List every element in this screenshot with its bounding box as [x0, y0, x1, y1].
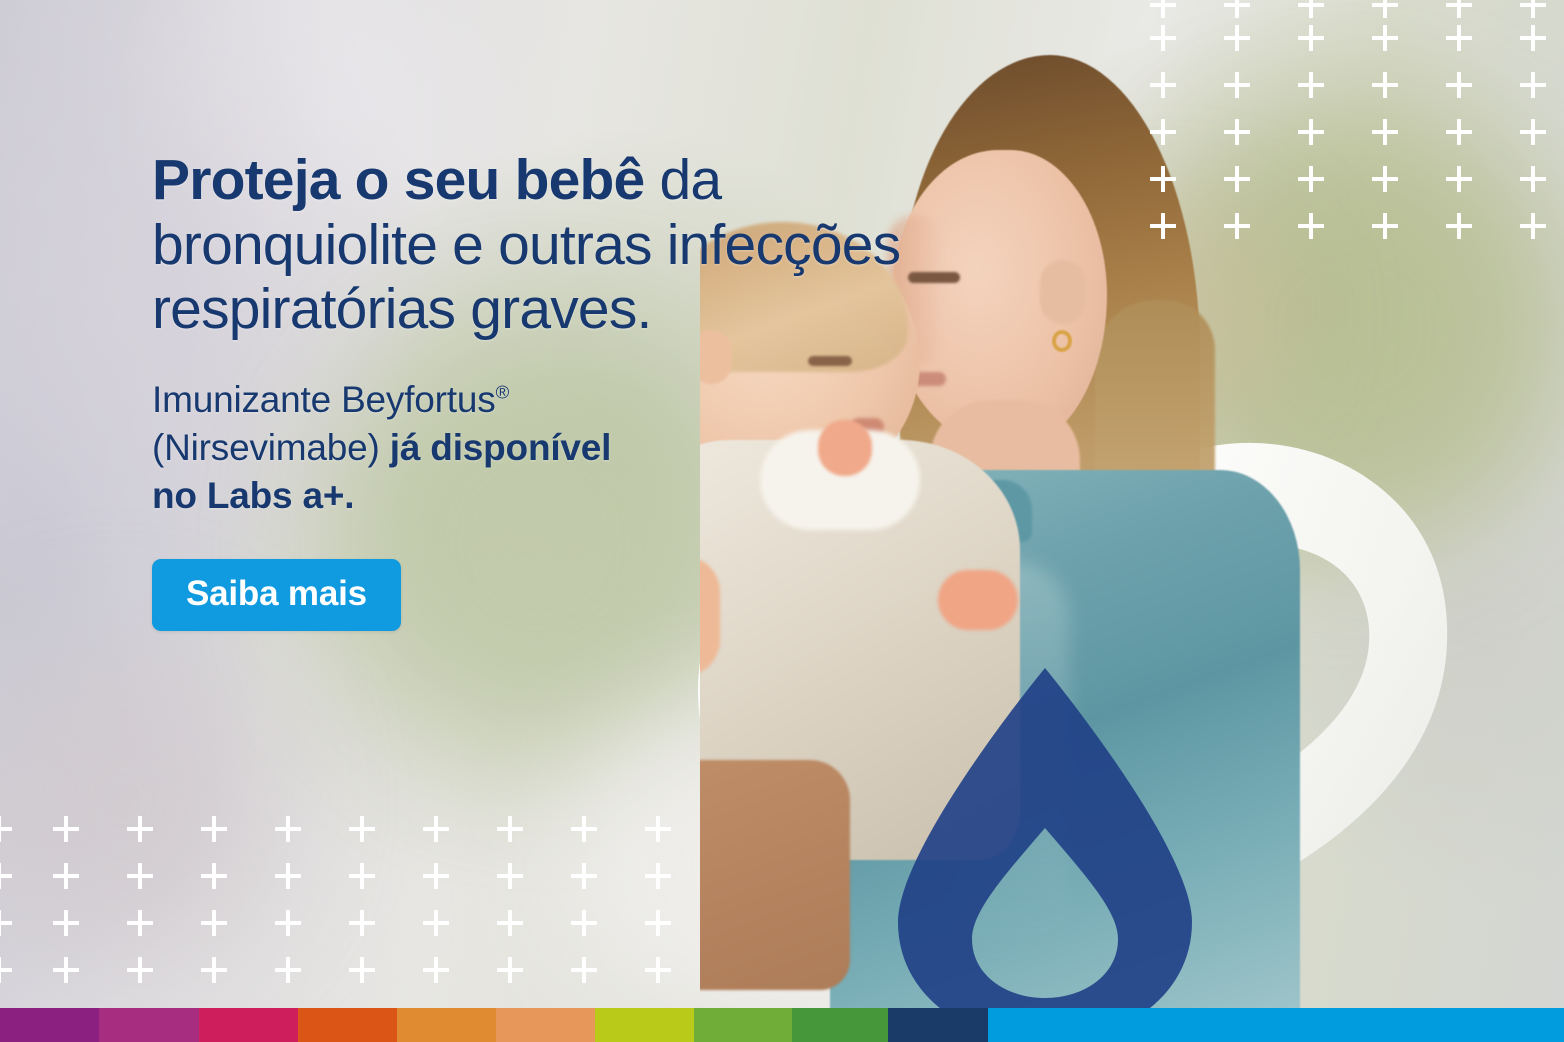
plus-mark-icon [1150, 25, 1176, 51]
navy-droplet-logo-icon [880, 660, 1210, 1042]
headline-rest-line1: da [644, 148, 721, 212]
saiba-mais-button[interactable]: Saiba mais [152, 559, 401, 631]
baby-arm [700, 760, 850, 990]
plus-mark-icon [423, 957, 449, 983]
plus-mark-icon [1520, 25, 1546, 51]
plus-mark-icon [423, 863, 449, 889]
plus-mark-icon [423, 816, 449, 842]
plus-mark-icon [0, 863, 12, 889]
plus-mark-icon [0, 816, 12, 842]
plus-mark-icon [1446, 166, 1472, 192]
plus-mark-icon [1446, 213, 1472, 239]
plus-mark-icon [349, 957, 375, 983]
plus-mark-icon [1372, 166, 1398, 192]
color-bar-segment-navy [888, 1008, 988, 1042]
headline: Proteja o seu bebê da bronquiolite e out… [152, 148, 1052, 342]
plus-mark-icon [1150, 119, 1176, 145]
plus-mark-icon [275, 863, 301, 889]
plus-mark-icon [1150, 0, 1176, 18]
plus-mark-icon [1298, 119, 1324, 145]
color-bar-segment-magenta [99, 1008, 199, 1042]
brand-color-bar [0, 1008, 1564, 1042]
plus-mark-icon [1150, 213, 1176, 239]
plus-mark-icon [1520, 119, 1546, 145]
plus-mark-icon [645, 910, 671, 936]
plus-mark-icon [571, 910, 597, 936]
plus-mark-icon [349, 863, 375, 889]
plus-mark-icon [1298, 72, 1324, 98]
plus-mark-icon [53, 957, 79, 983]
subcopy-product-name: Imunizante Beyfortus [152, 379, 496, 420]
plus-mark-icon [571, 957, 597, 983]
plus-mark-icon [1224, 166, 1250, 192]
color-bar-segment-orange [397, 1008, 496, 1042]
plus-mark-icon [1446, 119, 1472, 145]
plus-mark-icon [497, 863, 523, 889]
plus-mark-icon [497, 816, 523, 842]
plus-mark-icon [1298, 166, 1324, 192]
plus-mark-icon [1520, 72, 1546, 98]
plus-mark-icon [275, 957, 301, 983]
color-bar-segment-purple [0, 1008, 99, 1042]
headline-line2: bronquiolite e outras infecções [152, 213, 900, 277]
subcopy-availability-bold: já disponível [390, 427, 612, 468]
plus-mark-icon [1372, 0, 1398, 18]
color-bar-segment-orange-red [298, 1008, 397, 1042]
subcopy-location-bold: no Labs a+. [152, 475, 354, 516]
plus-mark-icon [1150, 72, 1176, 98]
plus-mark-icon [1446, 0, 1472, 18]
headline-line3: respiratórias graves. [152, 277, 652, 341]
plus-mark-icon [53, 816, 79, 842]
plus-mark-icon [1224, 25, 1250, 51]
color-bar-segment-pink-red [199, 1008, 298, 1042]
plus-mark-icon [1372, 119, 1398, 145]
plus-mark-icon [349, 910, 375, 936]
plus-mark-icon [349, 816, 375, 842]
plus-mark-icon [127, 863, 153, 889]
plus-mark-icon [127, 910, 153, 936]
copy-block: Proteja o seu bebê da bronquiolite e out… [152, 148, 1052, 631]
plus-mark-icon [571, 816, 597, 842]
plus-mark-icon [1224, 119, 1250, 145]
registered-trademark-icon: ® [496, 382, 509, 403]
plus-mark-icon [497, 957, 523, 983]
plus-mark-icon [1520, 213, 1546, 239]
promo-banner: Proteja o seu bebê da bronquiolite e out… [0, 0, 1564, 1042]
plus-mark-icon [201, 816, 227, 842]
plus-mark-icon [53, 910, 79, 936]
color-bar-segment-green [792, 1008, 888, 1042]
plus-mark-icon [127, 816, 153, 842]
plus-mark-icon [275, 816, 301, 842]
color-bar-segment-cyan [988, 1008, 1564, 1042]
plus-mark-icon [275, 910, 301, 936]
plus-mark-icon [53, 863, 79, 889]
plus-mark-icon [0, 910, 12, 936]
plus-mark-icon [423, 910, 449, 936]
plus-mark-icon [645, 816, 671, 842]
plus-mark-icon [1298, 0, 1324, 18]
plus-mark-icon [645, 957, 671, 983]
subcopy: Imunizante Beyfortus® (Nirsevimabe) já d… [152, 376, 1052, 519]
plus-mark-icon [1372, 72, 1398, 98]
plus-mark-icon [1446, 72, 1472, 98]
plus-mark-icon [1298, 25, 1324, 51]
plus-mark-icon [127, 957, 153, 983]
plus-mark-icon [1520, 0, 1546, 18]
plus-mark-icon [201, 957, 227, 983]
plus-mark-icon [1372, 25, 1398, 51]
plus-mark-icon [645, 863, 671, 889]
plus-mark-icon [1446, 25, 1472, 51]
plus-mark-icon [1520, 166, 1546, 192]
plus-mark-icon [201, 910, 227, 936]
plus-mark-icon [1224, 72, 1250, 98]
color-bar-segment-light-orange [496, 1008, 595, 1042]
plus-mark-icon [1372, 213, 1398, 239]
headline-bold-part: Proteja o seu bebê [152, 148, 644, 212]
plus-mark-icon [1298, 213, 1324, 239]
plus-mark-icon [1224, 213, 1250, 239]
plus-mark-icon [497, 910, 523, 936]
color-bar-segment-yellow-green [595, 1008, 694, 1042]
plus-mark-icon [201, 863, 227, 889]
plus-mark-icon [1224, 0, 1250, 18]
mother-earring [1052, 330, 1072, 352]
plus-mark-icon [0, 957, 12, 983]
plus-mark-icon [571, 863, 597, 889]
plus-mark-icon [1150, 166, 1176, 192]
color-bar-segment-green-light [694, 1008, 792, 1042]
subcopy-generic-name: (Nirsevimabe) [152, 427, 390, 468]
